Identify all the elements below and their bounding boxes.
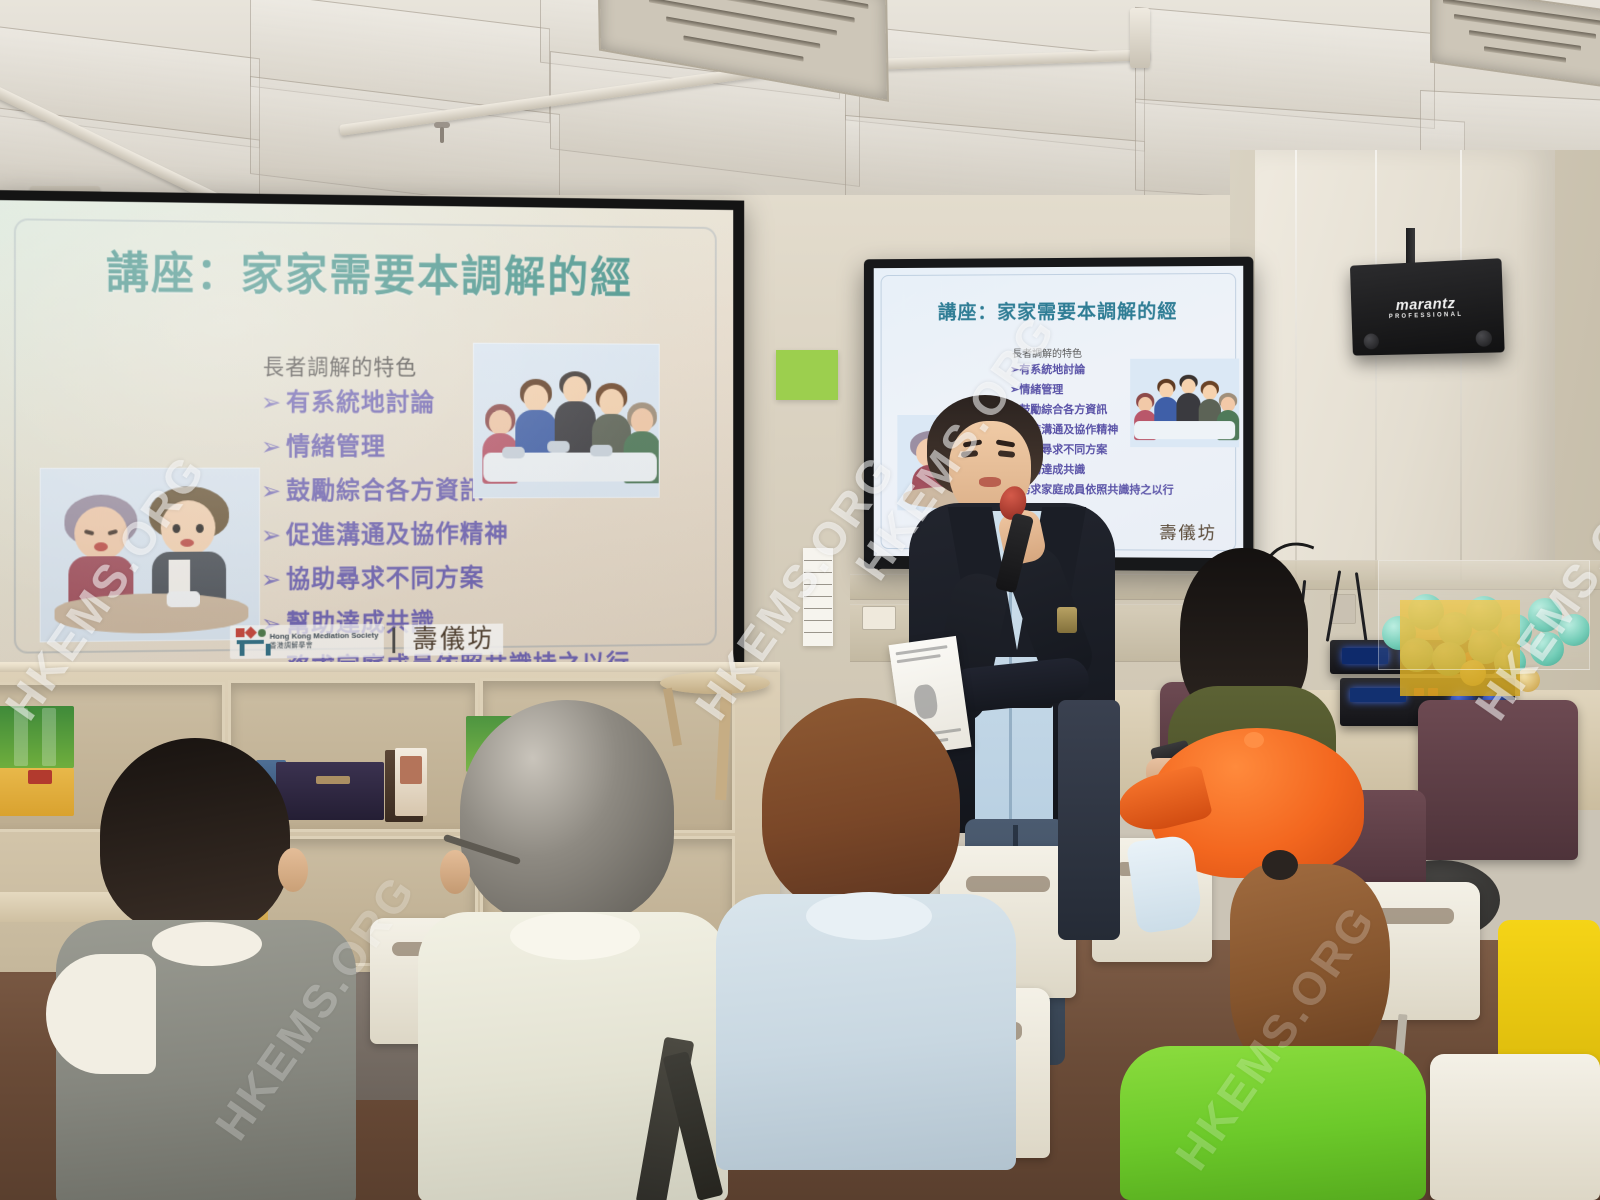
ear bbox=[440, 850, 470, 894]
audience-grey-hair-glasses bbox=[418, 700, 728, 1200]
clipart-elder-mediator bbox=[40, 468, 260, 643]
audience-dark-hair-grey-top bbox=[56, 738, 356, 1200]
bullet-arrow-icon: ➢ bbox=[261, 522, 282, 550]
ear bbox=[278, 848, 308, 892]
bullet-arrow-icon: ➢ bbox=[261, 477, 282, 505]
torso bbox=[1120, 1046, 1426, 1200]
hkms-mark-icon bbox=[236, 628, 265, 656]
speaker-mount-arm bbox=[1406, 228, 1415, 266]
tv-slide-subtitle: 長者調解的特色 bbox=[1012, 345, 1082, 360]
seminar-photo-scene: 講座：家家需要本調解的經 長者調解的特色 ➢有系統地討論 ➢情緒管理 ➢鼓勵綜合… bbox=[0, 0, 1600, 1200]
white-backdrop bbox=[1255, 150, 1555, 580]
hkms-name-zh: 香港調解學會 bbox=[270, 640, 379, 651]
collar bbox=[510, 912, 640, 960]
bullet-arrow-icon: ➢ bbox=[261, 389, 282, 417]
balloon-stand-glass bbox=[1378, 560, 1590, 670]
projection-screen: 講座：家家需要本調解的經 長者調解的特色 ➢有系統地討論 ➢情緒管理 ➢鼓勵綜合… bbox=[0, 190, 744, 690]
wooden-stool bbox=[660, 672, 770, 694]
cap-button bbox=[1244, 732, 1264, 748]
hair bbox=[100, 738, 290, 934]
standing-person-legs bbox=[1058, 700, 1120, 940]
speaker-brand-label: marantz PROFESSIONAL bbox=[1351, 293, 1503, 321]
clipart-mediation-group bbox=[473, 343, 660, 499]
wall-notice-schedule bbox=[803, 548, 833, 646]
tv-slide-title: 講座：家家需要本調解的經 bbox=[874, 296, 1244, 325]
face-mask bbox=[1126, 834, 1204, 934]
audience-auburn-light-blue bbox=[716, 698, 1016, 1168]
logo-divider bbox=[393, 628, 396, 653]
marantz-speaker: marantz PROFESSIONAL bbox=[1350, 258, 1505, 355]
bullet-arrow-icon: ➢ bbox=[261, 566, 282, 594]
folding-chair-6[interactable] bbox=[1430, 1054, 1600, 1200]
wall-notice-green bbox=[776, 350, 838, 400]
bullet-arrow-icon: ➢ bbox=[261, 433, 282, 461]
shoulder-left bbox=[46, 954, 156, 1074]
list-item: ➢協助尋求不同方案 bbox=[261, 558, 630, 596]
tv-partner-logo: 壽儀坊 bbox=[1159, 518, 1217, 543]
tv-clipart-group bbox=[1130, 359, 1239, 448]
sprinkler-head bbox=[434, 122, 450, 144]
hair bbox=[460, 700, 674, 924]
hvac-vent-2 bbox=[1430, 0, 1600, 89]
speaker-subbrand-label: PROFESSIONAL bbox=[1352, 310, 1504, 321]
slide-title: 講座：家家需要本調解的經 bbox=[0, 236, 733, 306]
partner-logo: 壽儀坊 bbox=[404, 623, 503, 656]
collar bbox=[152, 922, 262, 966]
audience-orange-cap bbox=[1110, 728, 1430, 1200]
hair-tie bbox=[1262, 850, 1298, 880]
collar bbox=[806, 892, 932, 940]
hkms-name-en: Hong Kong Mediation Society bbox=[270, 632, 379, 641]
hair bbox=[762, 698, 960, 912]
office-chair-2[interactable] bbox=[1418, 700, 1578, 860]
hk-mediation-society-logo: Hong Kong Mediation Society 香港調解學會 bbox=[230, 624, 384, 659]
slide-logo-row: Hong Kong Mediation Society 香港調解學會 壽儀坊 bbox=[230, 623, 503, 659]
list-item: ➢促進溝通及協作精神 bbox=[261, 514, 630, 551]
presenter-badge bbox=[1057, 607, 1077, 633]
slide-subtitle: 長者調解的特色 bbox=[263, 349, 417, 381]
